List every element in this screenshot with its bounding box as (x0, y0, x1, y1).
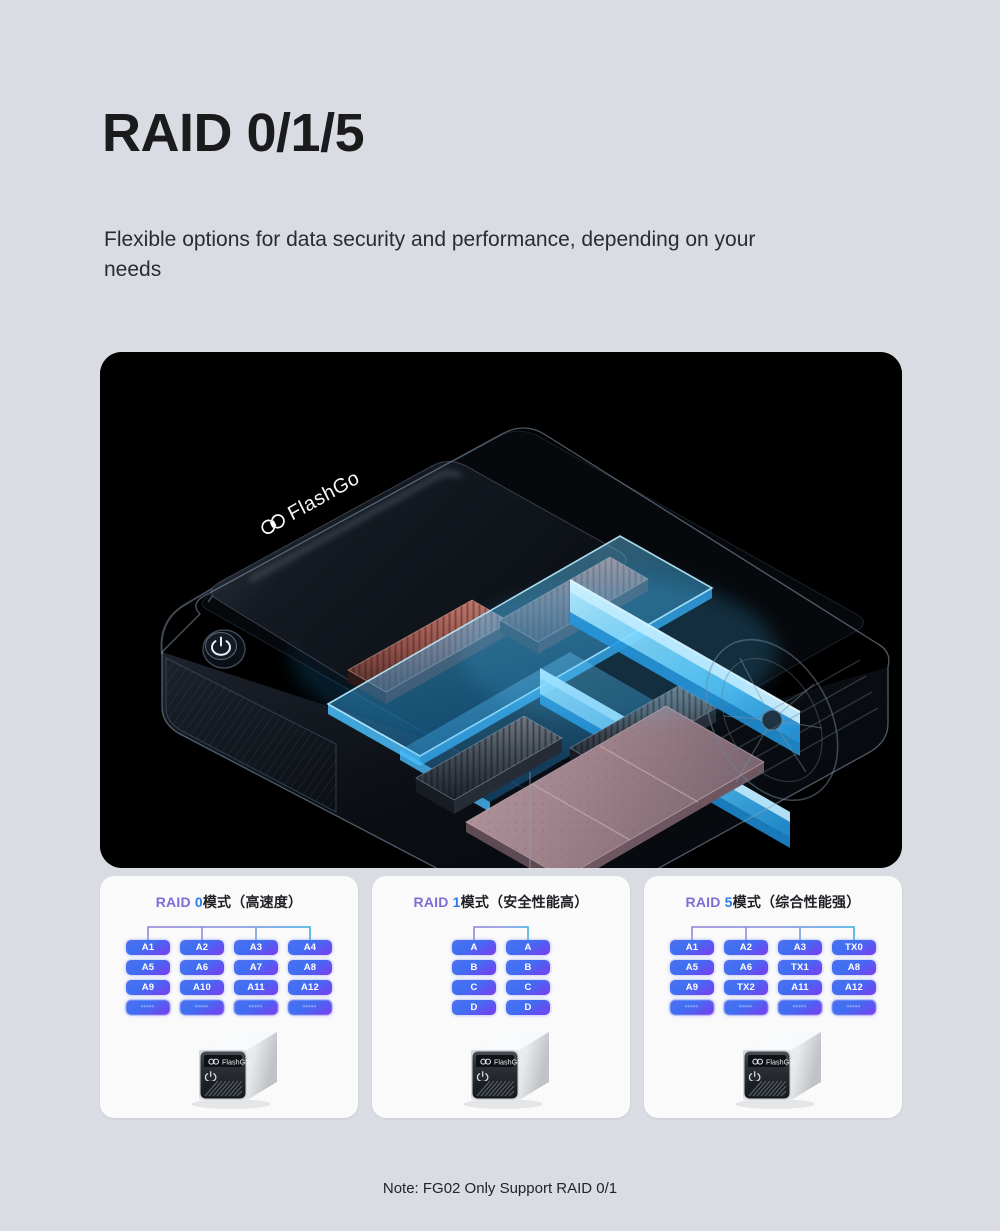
page-subtitle: Flexible options for data security and p… (104, 225, 804, 286)
stripe-connector (452, 924, 550, 940)
title-suffix: 模式（综合性能强） (733, 894, 861, 910)
data-block: A3 (234, 940, 278, 955)
page-title: RAID 0/1/5 (102, 104, 364, 163)
stripe-diagram-raid0: A1A2A3A4A5A6A7A8A9A10A11A12•••••••••••••… (100, 924, 358, 1015)
svg-text:FlashGo: FlashGo (766, 1057, 793, 1066)
data-block: C (452, 980, 496, 995)
raid-card-raid0[interactable]: RAID 0模式（高速度）A1A2A3A4A5A6A7A8A9A10A11A12… (100, 876, 358, 1118)
data-block: TX0 (832, 940, 876, 955)
stripe-diagram-inner: AABBCCDD (452, 924, 550, 1015)
data-block: A2 (724, 940, 768, 955)
data-block: D (452, 1000, 496, 1015)
title-keyword: RAID (156, 894, 191, 910)
connector-tree (126, 924, 332, 940)
svg-text:FlashGo: FlashGo (494, 1057, 521, 1066)
enclosure-xray-illustration: FlashGo (100, 352, 902, 868)
title-number: 1 (453, 894, 461, 910)
device-thumbnail: FlashGo (449, 1024, 553, 1110)
data-block: A8 (832, 960, 876, 975)
data-block: A12 (832, 980, 876, 995)
data-block: A2 (180, 940, 224, 955)
data-block: A4 (288, 940, 332, 955)
block-grid: A1A2A3A4A5A6A7A8A9A10A11A12•••••••••••••… (126, 940, 332, 1015)
block-grid: AABBCCDD (452, 940, 550, 1015)
data-block: B (506, 960, 550, 975)
data-block: A10 (180, 980, 224, 995)
raid-card-raid1[interactable]: RAID 1模式（安全性能高）AABBCCDDFlashGo (372, 876, 630, 1118)
raid-card-raid5[interactable]: RAID 5模式（综合性能强）A1A2A3TX0A5A6TX1A8A9TX2A1… (644, 876, 902, 1118)
data-block: A5 (126, 960, 170, 975)
data-block: A (452, 940, 496, 955)
hero-product-image: FlashGo (100, 352, 902, 868)
connector-tree (670, 924, 876, 940)
data-block: A7 (234, 960, 278, 975)
power-button[interactable] (203, 630, 245, 668)
stripe-connector (670, 924, 876, 940)
data-block: ••••• (724, 1000, 768, 1015)
title-keyword: RAID (414, 894, 449, 910)
stripe-diagram-raid1: AABBCCDD (372, 924, 630, 1015)
stripe-diagram-raid5: A1A2A3TX0A5A6TX1A8A9TX2A11A12•••••••••••… (644, 924, 902, 1015)
data-block: TX2 (724, 980, 768, 995)
stripe-connector (126, 924, 332, 940)
data-block: ••••• (126, 1000, 170, 1015)
data-block: A12 (288, 980, 332, 995)
data-block: A9 (126, 980, 170, 995)
data-block: TX1 (778, 960, 822, 975)
data-block: B (452, 960, 496, 975)
data-block: ••••• (180, 1000, 224, 1015)
title-suffix: 模式（高速度） (203, 894, 302, 910)
device-mock-raid5: FlashGo (644, 1024, 902, 1110)
data-block: A (506, 940, 550, 955)
raid-card-title-raid1: RAID 1模式（安全性能高） (372, 892, 630, 912)
data-block: A1 (670, 940, 714, 955)
data-block: A1 (126, 940, 170, 955)
raid-card-title-raid5: RAID 5模式（综合性能强） (644, 892, 902, 912)
data-block: ••••• (778, 1000, 822, 1015)
raid-mode-cards: RAID 0模式（高速度）A1A2A3A4A5A6A7A8A9A10A11A12… (100, 876, 902, 1118)
data-block: A3 (778, 940, 822, 955)
data-block: C (506, 980, 550, 995)
data-block: ••••• (670, 1000, 714, 1015)
footnote: Note: FG02 Only Support RAID 0/1 (0, 1180, 1000, 1197)
title-keyword: RAID (686, 894, 721, 910)
svg-text:FlashGo: FlashGo (222, 1057, 249, 1066)
data-block: ••••• (288, 1000, 332, 1015)
title-number: 0 (195, 894, 203, 910)
block-grid: A1A2A3TX0A5A6TX1A8A9TX2A11A12•••••••••••… (670, 940, 876, 1015)
raid-card-title-raid0: RAID 0模式（高速度） (100, 892, 358, 912)
device-mock-raid1: FlashGo (372, 1024, 630, 1110)
data-block: ••••• (832, 1000, 876, 1015)
data-block: A11 (778, 980, 822, 995)
data-block: A11 (234, 980, 278, 995)
hero-stage: FlashGo (100, 352, 902, 868)
title-suffix: 模式（安全性能高） (461, 894, 589, 910)
stripe-diagram-inner: A1A2A3TX0A5A6TX1A8A9TX2A11A12•••••••••••… (670, 924, 876, 1015)
data-block: A6 (180, 960, 224, 975)
device-thumbnail: FlashGo (177, 1024, 281, 1110)
title-number: 5 (725, 894, 733, 910)
data-block: A8 (288, 960, 332, 975)
data-block: A6 (724, 960, 768, 975)
data-block: A9 (670, 980, 714, 995)
data-block: D (506, 1000, 550, 1015)
data-block: ••••• (234, 1000, 278, 1015)
data-block: A5 (670, 960, 714, 975)
device-mock-raid0: FlashGo (100, 1024, 358, 1110)
device-thumbnail: FlashGo (721, 1024, 825, 1110)
stripe-diagram-inner: A1A2A3A4A5A6A7A8A9A10A11A12•••••••••••••… (126, 924, 332, 1015)
connector-tree (452, 924, 550, 940)
